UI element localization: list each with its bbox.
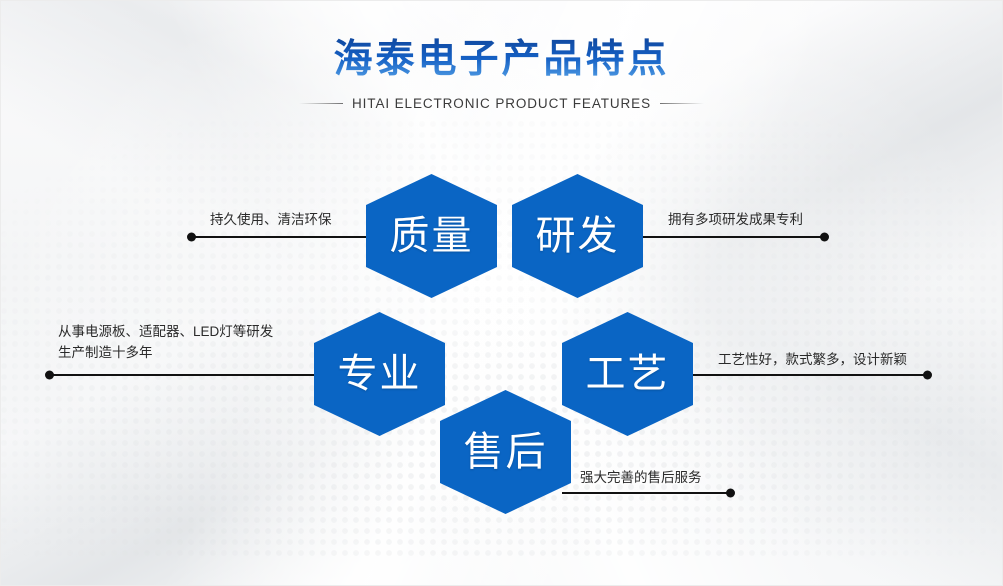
hexagon-label-after-sales: 售后 xyxy=(464,432,548,472)
caption-professional-line1: 从事电源板、适配器、LED灯等研发 xyxy=(58,322,308,343)
caption-professional-line2: 生产制造十多年 xyxy=(58,343,308,364)
connector-line-professional xyxy=(46,374,324,376)
subtitle-row: HITAI ELECTRONIC PRODUCT FEATURES xyxy=(0,96,1003,111)
caption-craft: 工艺性好，款式繁多，设计新颖 xyxy=(718,350,907,371)
connector-dot-quality xyxy=(187,233,196,242)
subtitle-rule-right xyxy=(660,103,704,104)
hexagon-label-professional: 专业 xyxy=(338,354,422,394)
connector-dot-rd xyxy=(820,233,829,242)
hexagon-label-quality: 质量 xyxy=(390,216,474,256)
caption-professional: 从事电源板、适配器、LED灯等研发 生产制造十多年 xyxy=(58,322,308,364)
connector-line-rd xyxy=(638,236,828,238)
connector-line-after-sales xyxy=(562,492,734,494)
page-subtitle: HITAI ELECTRONIC PRODUCT FEATURES xyxy=(352,96,651,111)
feature-infographic: 海泰电子产品特点 HITAI ELECTRONIC PRODUCT FEATUR… xyxy=(0,0,1003,586)
hexagon-label-rd: 研发 xyxy=(536,216,620,256)
connector-dot-professional xyxy=(45,371,54,380)
page-title: 海泰电子产品特点 xyxy=(0,38,1003,83)
header: 海泰电子产品特点 HITAI ELECTRONIC PRODUCT FEATUR… xyxy=(0,38,1003,111)
hexagon-label-craft: 工艺 xyxy=(586,354,670,394)
caption-quality: 持久使用、清洁环保 xyxy=(210,210,332,231)
caption-rd: 拥有多项研发成果专利 xyxy=(668,210,803,231)
connector-dot-craft xyxy=(923,371,932,380)
subtitle-rule-left xyxy=(299,103,343,104)
connector-line-quality xyxy=(188,236,374,238)
connector-dot-after-sales xyxy=(726,489,735,498)
connector-line-craft xyxy=(688,374,931,376)
caption-after-sales: 强大完善的售后服务 xyxy=(580,468,702,489)
